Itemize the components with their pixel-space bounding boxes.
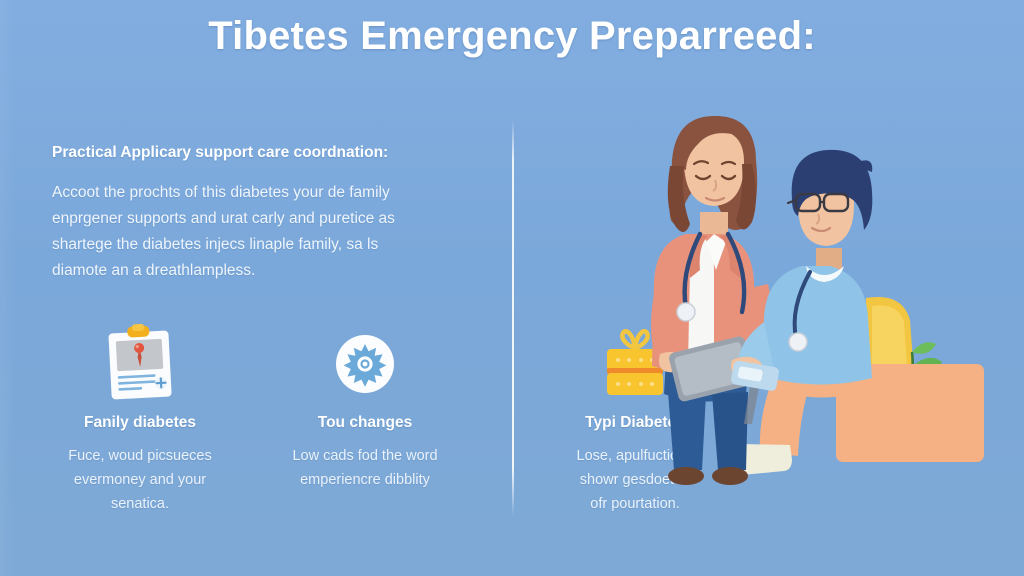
- page-title: Tibetes Emergency Preparreed:: [0, 14, 1024, 59]
- gear-circle-icon: [250, 322, 480, 406]
- feature-description: Low cads fod the word emperiencre dibbli…: [250, 444, 480, 492]
- shoe-shape: [712, 467, 748, 485]
- feature-line: evermoney and your: [25, 468, 255, 492]
- lead-line: diamote an a dreathlampless.: [52, 258, 472, 284]
- stethoscope-chestpiece: [677, 303, 695, 321]
- lead-line: Accoot the prochts of this diabetes your…: [52, 180, 472, 206]
- shoe-shape: [668, 467, 704, 485]
- lead-paragraph: Accoot the prochts of this diabetes your…: [52, 180, 472, 284]
- clipboard-pin-icon: [25, 322, 255, 406]
- feature-line: Low cads fod the word: [250, 444, 480, 468]
- feature-title: Tou changes: [250, 414, 480, 432]
- feature-item-family-diabetes: Fanily diabetes Fuce, woud picsueces eve…: [25, 322, 255, 516]
- poster-canvas: Tibetes Emergency Preparreed: Practical …: [0, 0, 1024, 576]
- feature-description: Fuce, woud picsueces evermoney and your …: [25, 444, 255, 516]
- feature-item-tou-changes: Tou changes Low cads fod the word emperi…: [250, 322, 480, 492]
- lead-heading: Practical Applicary support care coordna…: [52, 144, 482, 162]
- feature-line: senatica.: [25, 492, 255, 516]
- feature-line: emperiencre dibblity: [250, 468, 480, 492]
- feature-title: Fanily diabetes: [25, 414, 255, 432]
- lead-line: shartege the diabetes injecs linaple fam…: [52, 232, 472, 258]
- doctor-and-patient-illustration: [620, 108, 1024, 538]
- feature-line: Fuce, woud picsueces: [25, 444, 255, 468]
- lead-line: enprgener supports and urat carly and pu…: [52, 206, 472, 232]
